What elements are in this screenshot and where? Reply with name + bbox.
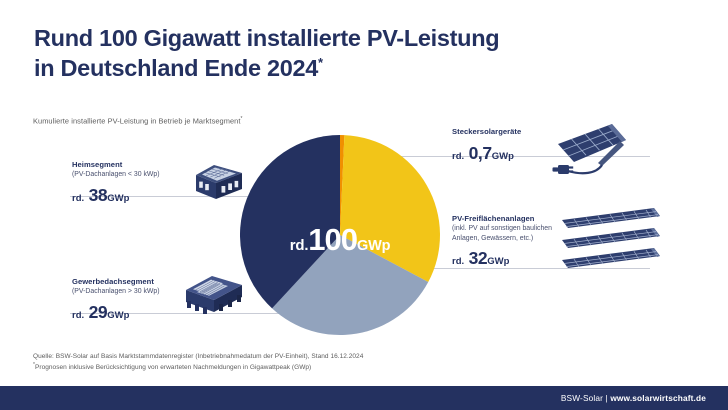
callout-steckersolargeraete-prefix: rd. — [452, 151, 464, 162]
callout-gewerbedachsegment-sub: (PV-Dachanlagen > 30 kWp) — [72, 287, 190, 296]
infographic-canvas: Rund 100 Gigawatt installierte PV-Leistu… — [0, 0, 728, 410]
callout-freiflaechenanlagen: PV-Freiflächenanlagen (inkl. PV auf sons… — [452, 214, 564, 269]
callout-steckersolargeraete: Steckersolargeräte rd. 0,7GWp — [452, 127, 562, 164]
callout-heimsegment-value: rd. 38GWp — [72, 185, 182, 206]
ground-mounted-solar-rows-icon — [558, 206, 678, 279]
callout-gewerbedachsegment-number: 29 — [89, 302, 108, 322]
callout-heimsegment-name: Heimsegment — [72, 160, 182, 169]
pie-chart-svg — [240, 135, 440, 335]
page-title: Rund 100 Gigawatt installierte PV-Leistu… — [34, 24, 634, 83]
callout-heimsegment-unit: GWp — [107, 193, 129, 204]
chart-subtitle: Kumulierte installierte PV-Leistung in B… — [33, 116, 243, 125]
house-with-solar-roof-icon — [190, 148, 250, 205]
brand-name: BSW-Solar — [561, 393, 603, 403]
callout-gewerbedachsegment: Gewerbedachsegment (PV-Dachanlagen > 30 … — [72, 277, 190, 323]
title-line-1: Rund 100 Gigawatt installierte PV-Leistu… — [34, 25, 499, 51]
callout-freiflaechenanlagen-name: PV-Freiflächenanlagen — [452, 214, 564, 223]
title-asterisk: * — [318, 55, 323, 70]
callout-gewerbedachsegment-value: rd. 29GWp — [72, 302, 190, 323]
callout-freiflaechenanlagen-prefix: rd. — [452, 256, 464, 267]
callout-steckersolargeraete-number: 0,7 — [469, 143, 492, 163]
pie-chart — [240, 135, 440, 335]
footer-line-2-wrap: *Prognosen inklusive Berücksichtigung vo… — [33, 362, 363, 373]
callout-freiflaechenanlagen-number: 32 — [469, 248, 488, 268]
footer-line-2: Prognosen inklusive Berücksichtigung von… — [35, 364, 311, 371]
commercial-flat-roof-solar-icon — [178, 264, 250, 319]
callout-gewerbedachsegment-prefix: rd. — [72, 310, 84, 321]
footer-source: Quelle: BSW-Solar auf Basis Marktstammda… — [33, 352, 363, 373]
callout-steckersolargeraete-name: Steckersolargeräte — [452, 127, 562, 136]
brand-separator: | — [606, 393, 608, 403]
brand-bar: BSW-Solar | www.solarwirtschaft.de — [0, 386, 728, 410]
callout-steckersolargeraete-value: rd. 0,7GWp — [452, 143, 562, 164]
callout-gewerbedachsegment-name: Gewerbedachsegment — [72, 277, 190, 286]
callout-freiflaechenanlagen-unit: GWp — [487, 256, 509, 267]
chart-subtitle-text: Kumulierte installierte PV-Leistung in B… — [33, 116, 240, 125]
balcony-solar-panel-plug-icon — [552, 118, 668, 193]
callout-heimsegment-prefix: rd. — [72, 193, 84, 204]
callout-heimsegment: Heimsegment (PV-Dachanlagen < 30 kWp) rd… — [72, 160, 182, 206]
callout-heimsegment-sub: (PV-Dachanlagen < 30 kWp) — [72, 170, 182, 179]
callout-steckersolargeraete-unit: GWp — [492, 151, 514, 162]
callout-gewerbedachsegment-unit: GWp — [107, 310, 129, 321]
callout-freiflaechenanlagen-value: rd. 32GWp — [452, 248, 564, 269]
callout-freiflaechenanlagen-sub: (inkl. PV auf sonstigen baulichen Anlage… — [452, 224, 564, 242]
chart-subtitle-asterisk: * — [240, 116, 242, 122]
brand-text: BSW-Solar | www.solarwirtschaft.de — [561, 393, 706, 403]
title-line-2: in Deutschland Ende 2024 — [34, 55, 318, 81]
brand-url[interactable]: www.solarwirtschaft.de — [610, 393, 706, 403]
footer-line-1: Quelle: BSW-Solar auf Basis Marktstammda… — [33, 352, 363, 362]
callout-heimsegment-number: 38 — [89, 185, 108, 205]
